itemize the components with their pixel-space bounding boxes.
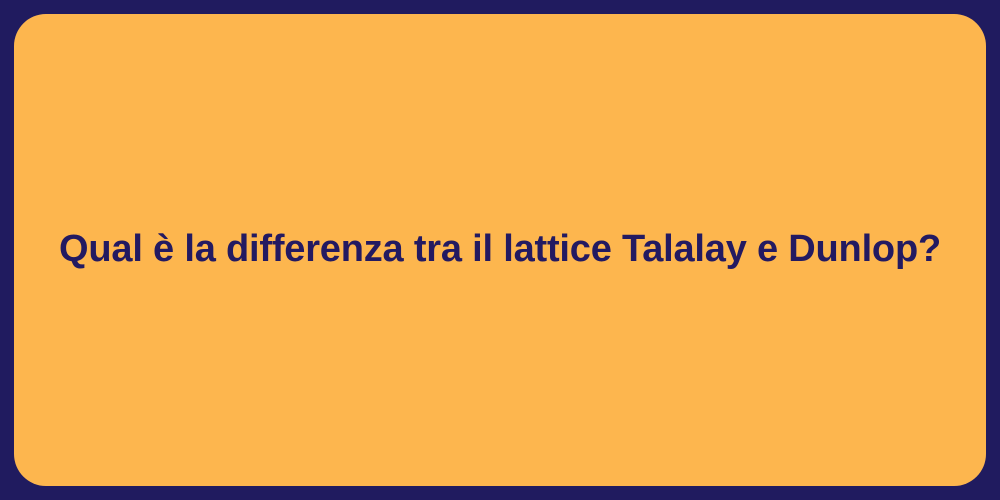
page-title: Qual è la differenza tra il lattice Tala… — [59, 226, 941, 274]
card-outer-frame: Qual è la differenza tra il lattice Tala… — [0, 0, 1000, 500]
card-surface: Qual è la differenza tra il lattice Tala… — [14, 14, 986, 486]
